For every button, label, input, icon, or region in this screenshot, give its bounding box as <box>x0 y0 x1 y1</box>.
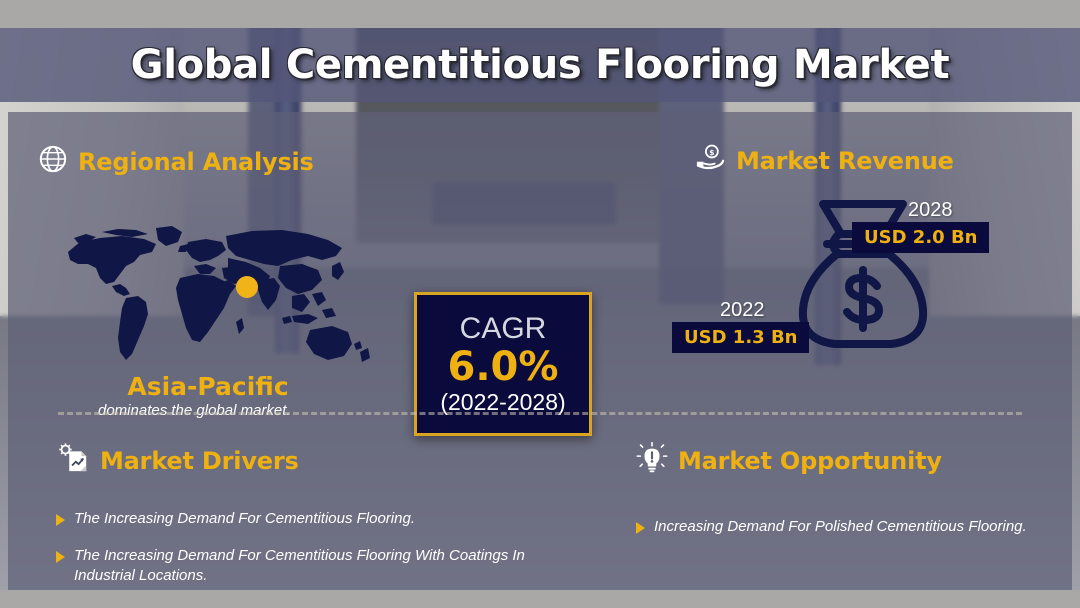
page-title: Global Cementitious Flooring Market <box>131 42 950 88</box>
revenue-value-2022: USD 1.3 Bn <box>672 322 809 353</box>
bullet-triangle-icon <box>56 551 65 563</box>
list-item: Increasing Demand For Polished Cementiti… <box>636 517 1046 537</box>
title-band: Global Cementitious Flooring Market <box>0 28 1080 102</box>
driver-item-text: The Increasing Demand For Cementitious F… <box>74 546 556 586</box>
revenue-year-2022: 2022 <box>672 299 809 322</box>
section-divider <box>58 412 1022 415</box>
section-market-revenue: $ Market Revenue 2028 USD 2.0 Bn <box>662 144 1062 384</box>
section-regional-analysis: Regional Analysis <box>38 144 398 179</box>
revenue-year-2028: 2028 <box>852 199 989 222</box>
gear-document-chart-icon <box>56 442 90 479</box>
content-panel: Regional Analysis <box>8 112 1072 590</box>
svg-text:$: $ <box>709 148 714 157</box>
bullet-triangle-icon <box>56 514 65 526</box>
regional-heading-label: Regional Analysis <box>78 148 314 176</box>
regional-heading-row: Regional Analysis <box>38 144 398 179</box>
section-market-drivers: Market Drivers The Increasing Demand For… <box>56 442 556 602</box>
opportunity-heading-label: Market Opportunity <box>678 447 942 475</box>
region-name-label: Asia-Pacific <box>38 372 378 401</box>
lightbulb-icon <box>636 442 668 479</box>
revenue-point-2028: 2028 USD 2.0 Bn <box>852 199 989 253</box>
bullet-triangle-icon <box>636 522 645 534</box>
drivers-heading-row: Market Drivers <box>56 442 556 479</box>
cagr-period: (2022-2028) <box>440 390 565 415</box>
hand-holding-coin-icon: $ <box>694 144 726 177</box>
world-map <box>60 222 380 370</box>
section-market-opportunity: Market Opportunity Increasing Demand For… <box>636 442 1046 554</box>
drivers-list: The Increasing Demand For Cementitious F… <box>56 509 556 585</box>
opportunity-heading-row: Market Opportunity <box>636 442 1046 479</box>
revenue-point-2022: 2022 USD 1.3 Bn <box>672 299 809 353</box>
revenue-heading-label: Market Revenue <box>736 147 954 175</box>
globe-icon <box>38 144 68 179</box>
revenue-heading-row: $ Market Revenue <box>694 144 1062 177</box>
cagr-label: CAGR <box>460 313 547 345</box>
driver-item-text: The Increasing Demand For Cementitious F… <box>74 509 415 529</box>
list-item: The Increasing Demand For Cementitious F… <box>56 546 556 586</box>
cagr-value: 6.0% <box>448 345 559 390</box>
revenue-value-2028: USD 2.0 Bn <box>852 222 989 253</box>
list-item: The Increasing Demand For Cementitious F… <box>56 509 556 529</box>
map-marker-asia-pacific <box>236 276 258 298</box>
opportunity-item-text: Increasing Demand For Polished Cementiti… <box>654 517 1027 537</box>
drivers-heading-label: Market Drivers <box>100 447 299 475</box>
frame-top-bar <box>0 0 1080 28</box>
opportunity-list: Increasing Demand For Polished Cementiti… <box>636 517 1046 537</box>
